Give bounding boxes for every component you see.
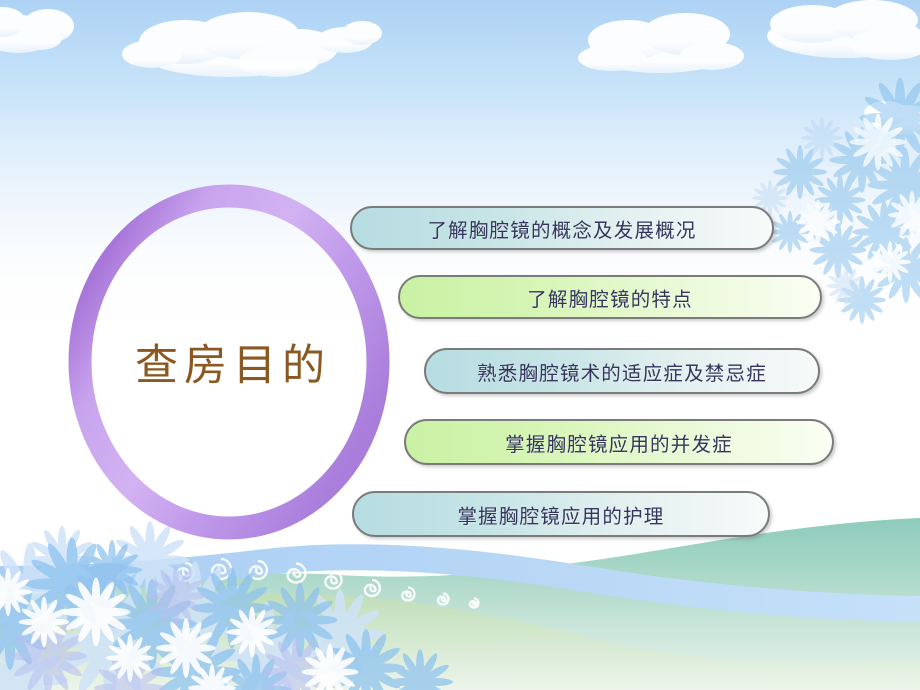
slide-canvas: 查房目的 了解胸腔镜的概念及发展概况 了解胸腔镜的特点 熟悉胸腔镜术的适应症及禁… (0, 0, 920, 690)
objective-pill-1[interactable]: 了解胸腔镜的概念及发展概况 (350, 206, 774, 250)
cloud-group (0, 0, 920, 135)
objective-pill-5[interactable]: 掌握胸腔镜应用的护理 (352, 491, 770, 537)
page-title: 查房目的 (68, 184, 390, 540)
objective-pill-4[interactable]: 掌握胸腔镜应用的并发症 (404, 419, 834, 465)
objective-pill-2[interactable]: 了解胸腔镜的特点 (398, 275, 822, 319)
objective-pill-3[interactable]: 熟悉胸腔镜术的适应症及禁忌症 (424, 348, 820, 394)
